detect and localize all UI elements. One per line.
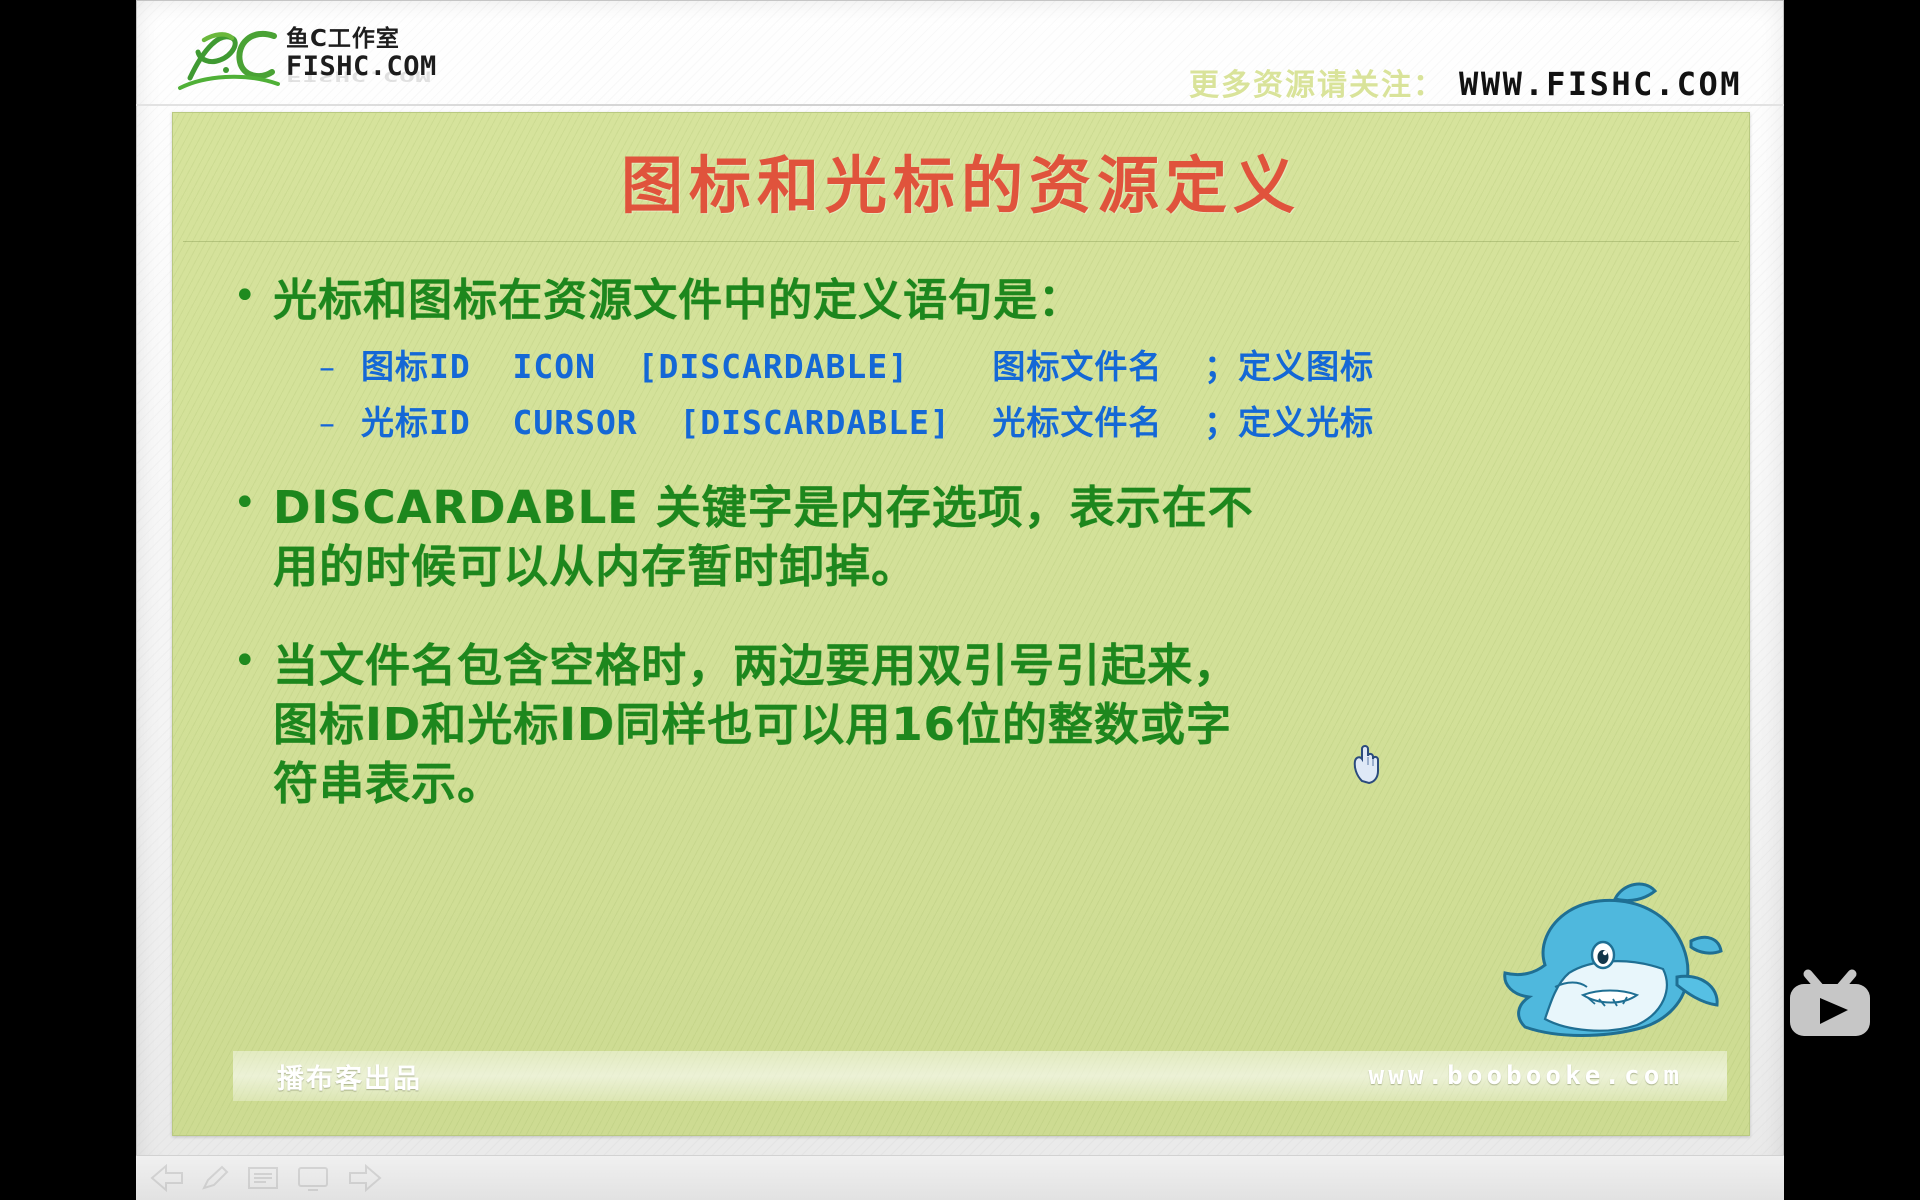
bullet-line: DISCARDABLE 关键字是内存选项，表示在不 xyxy=(273,478,1254,537)
header-divider xyxy=(136,104,1784,106)
bullet-item: • DISCARDABLE 关键字是内存选项，表示在不 用的时候可以从内存暂时卸… xyxy=(233,478,1709,596)
sub-text: 光标ID CURSOR [DISCARDABLE] 光标文件名 ；定义光标 xyxy=(361,396,1374,444)
promo-url: WWW.FISHC.COM xyxy=(1459,65,1742,103)
title-divider xyxy=(183,241,1739,242)
bullet-text: DISCARDABLE 关键字是内存选项，表示在不 用的时候可以从内存暂时卸掉。 xyxy=(273,478,1254,596)
sub-list: – 图标ID ICON [DISCARDABLE] 图标文件名 ；定义图标 – … xyxy=(319,340,1709,444)
slide-board: 图标和光标的资源定义 • 光标和图标在资源文件中的定义语句是： – 图标ID I… xyxy=(172,112,1750,1136)
fishc-brush-logo-icon xyxy=(174,18,294,94)
screen-icon[interactable] xyxy=(296,1164,330,1192)
tv-play-icon[interactable] xyxy=(1782,962,1878,1054)
promo-label: 更多资源请关注： xyxy=(1189,60,1445,104)
forward-arrow-icon[interactable] xyxy=(348,1164,382,1192)
page-title: 图标和光标的资源定义 xyxy=(173,135,1749,225)
back-arrow-icon[interactable] xyxy=(150,1164,184,1192)
sub-list-item: – 图标ID ICON [DISCARDABLE] 图标文件名 ；定义图标 xyxy=(319,340,1709,388)
bullet-marker: • xyxy=(233,478,273,528)
pen-icon[interactable] xyxy=(200,1164,230,1192)
bullet-line: 用的时候可以从内存暂时卸掉。 xyxy=(273,537,1254,596)
bullet-line: 图标ID和光标ID同样也可以用16位的整数或字 xyxy=(273,695,1239,754)
sub-marker: – xyxy=(319,348,361,386)
bullet-text: 当文件名包含空格时，两边要用双引号引起来， 图标ID和光标ID同样也可以用16位… xyxy=(273,636,1239,813)
sub-marker: – xyxy=(319,404,361,442)
brand-logo-reflection: FISHC.COM xyxy=(286,68,431,85)
bullet-line: 符串表示。 xyxy=(273,754,1239,813)
footer-url: www.boobooke.com xyxy=(1369,1061,1683,1091)
bullet-item: • 光标和图标在资源文件中的定义语句是： xyxy=(233,271,1709,330)
slide-content: • 光标和图标在资源文件中的定义语句是： – 图标ID ICON [DISCAR… xyxy=(233,263,1709,813)
screen: 鱼C工作室 FISHC.COM FISHC.COM 更多资源请关注： WWW.F… xyxy=(0,0,1920,1200)
footer-publisher: 播布客出品 xyxy=(277,1057,422,1096)
slide-footer: 播布客出品 www.boobooke.com xyxy=(233,1051,1727,1101)
slide-header: 鱼C工作室 FISHC.COM FISHC.COM 更多资源请关注： WWW.F… xyxy=(136,0,1784,108)
bullet-item: • 当文件名包含空格时，两边要用双引号引起来， 图标ID和光标ID同样也可以用1… xyxy=(233,636,1709,813)
brand-logo: 鱼C工作室 FISHC.COM FISHC.COM xyxy=(174,14,534,98)
menu-icon[interactable] xyxy=(246,1164,280,1192)
shark-mascot-icon xyxy=(1495,877,1725,1057)
sub-text: 图标ID ICON [DISCARDABLE] 图标文件名 ；定义图标 xyxy=(361,340,1374,388)
bullet-text: 光标和图标在资源文件中的定义语句是： xyxy=(273,271,1083,330)
brand-name-cn: 鱼C工作室 xyxy=(286,26,437,52)
sub-list-item: – 光标ID CURSOR [DISCARDABLE] 光标文件名 ；定义光标 xyxy=(319,396,1709,444)
pointing-hand-cursor-icon xyxy=(1349,741,1385,785)
bullet-marker: • xyxy=(233,271,273,321)
header-promo: 更多资源请关注： WWW.FISHC.COM xyxy=(1189,60,1742,104)
player-control-strip xyxy=(136,1155,1784,1200)
bullet-marker: • xyxy=(233,636,273,686)
slide-frame: 鱼C工作室 FISHC.COM FISHC.COM 更多资源请关注： WWW.F… xyxy=(136,0,1784,1178)
bullet-line: 当文件名包含空格时，两边要用双引号引起来， xyxy=(273,636,1239,695)
